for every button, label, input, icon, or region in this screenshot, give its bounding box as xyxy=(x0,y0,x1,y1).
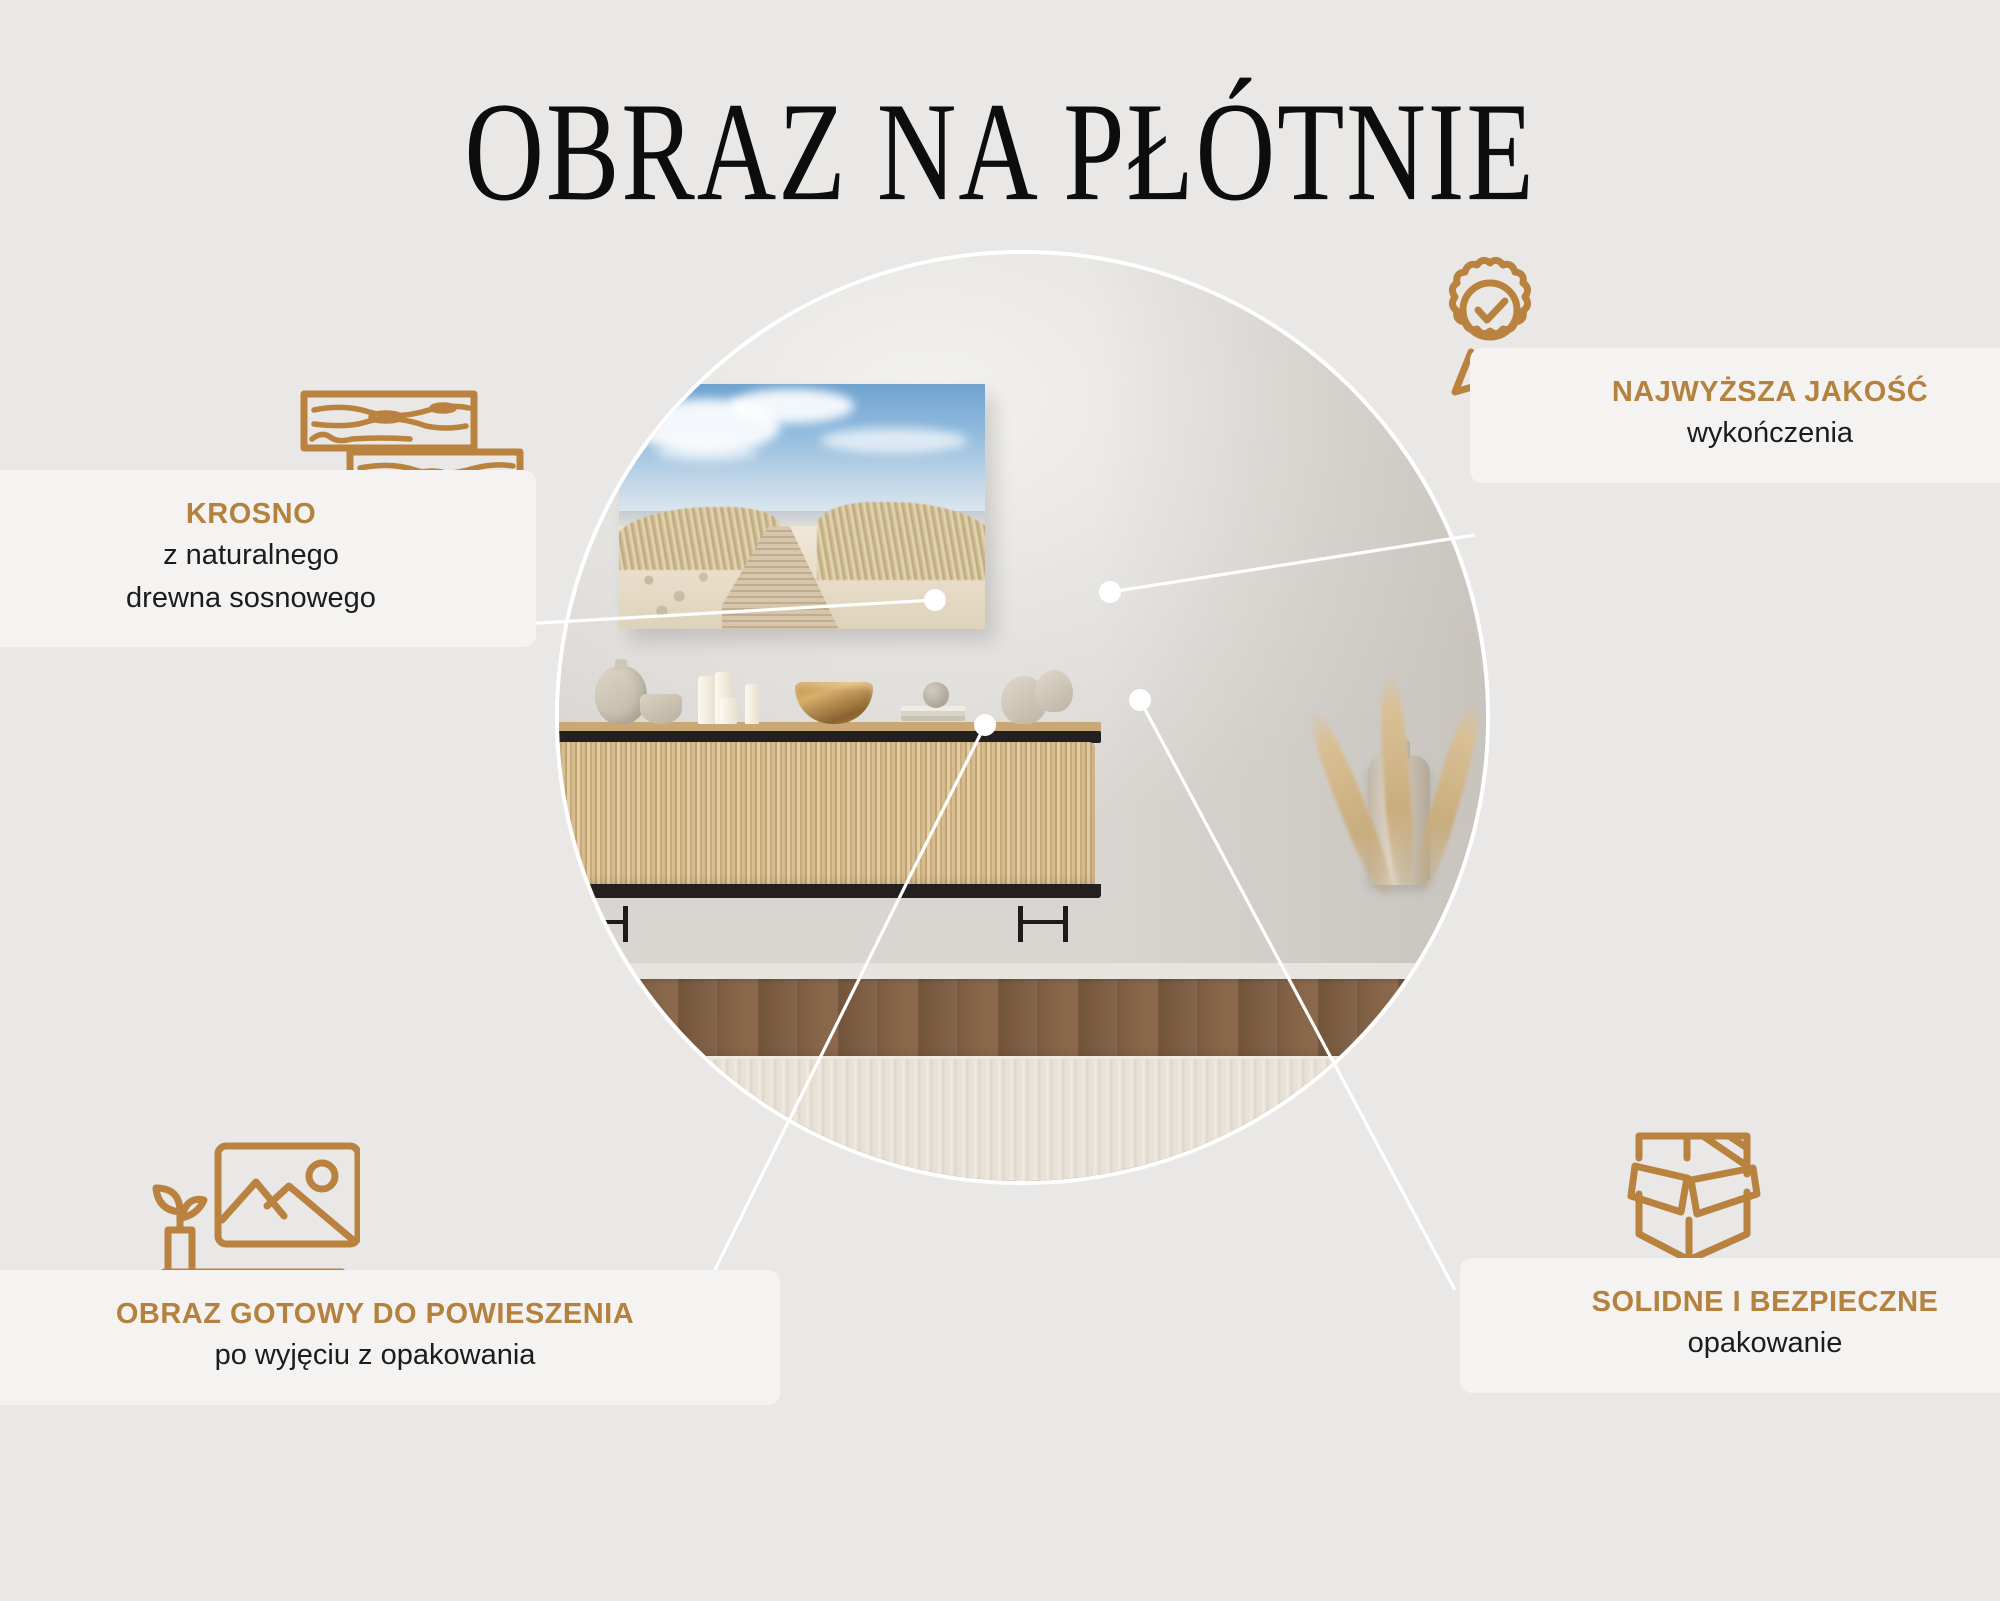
callout-packaging-subline-1: opakowanie xyxy=(1494,1324,2000,1362)
dune-grass-right xyxy=(817,502,985,581)
pampas-grass-vase xyxy=(1368,755,1430,885)
stacked-books xyxy=(901,706,965,721)
area-rug xyxy=(555,1056,1490,1185)
callout-krosno-subline-2: drewna sosnowego xyxy=(0,579,502,617)
callout-krosno: KROSNO z naturalnego drewna sosnowego xyxy=(0,470,536,647)
sideboard xyxy=(555,722,1101,907)
callout-quality-subline-1: wykończenia xyxy=(1504,414,2000,452)
product-scene-circle xyxy=(555,250,1490,1185)
page-title: OBRAZ NA PŁÓTNIE xyxy=(50,82,1950,224)
sideboard-leg-bar xyxy=(578,920,622,924)
sideboard-leg xyxy=(1063,906,1068,942)
callout-krosno-subline-1: z naturalnego xyxy=(0,536,502,574)
sand-footprints xyxy=(627,561,737,625)
sideboard-leg xyxy=(1018,906,1023,942)
pillar-candle xyxy=(745,684,759,724)
ceramic-vase xyxy=(595,666,647,724)
baseboard xyxy=(559,963,1486,979)
canvas-artwork xyxy=(619,384,985,630)
room-photo xyxy=(559,254,1486,1181)
open-box-icon xyxy=(1625,1120,1765,1275)
sideboard-leg-bar xyxy=(1023,920,1067,924)
pillar-candle xyxy=(698,676,715,724)
cloud xyxy=(729,389,853,423)
callout-ready-to-hang: OBRAZ GOTOWY DO POWIESZENIA po wyjęciu z… xyxy=(0,1270,780,1405)
callout-ready-subline-1: po wyjęciu z opakowania xyxy=(4,1336,746,1374)
callout-quality-headline: NAJWYŻSZA JAKOŚĆ xyxy=(1504,374,2000,410)
ceramic-bowl xyxy=(640,694,682,724)
callout-quality: NAJWYŻSZA JAKOŚĆ wykończenia xyxy=(1470,348,2000,483)
callout-ready-headline: OBRAZ GOTOWY DO POWIESZENIA xyxy=(4,1296,746,1332)
callout-packaging-headline: SOLIDNE I BEZPIECZNE xyxy=(1494,1284,2000,1320)
ceramic-jug xyxy=(1035,670,1073,712)
cloud xyxy=(821,428,967,453)
pillar-candle xyxy=(720,698,737,724)
callout-packaging: SOLIDNE I BEZPIECZNE opakowanie xyxy=(1460,1258,2000,1393)
sideboard-leg xyxy=(623,906,628,942)
sideboard-fluted-front xyxy=(555,742,1095,887)
sideboard-base xyxy=(555,884,1101,898)
sideboard-leg xyxy=(578,906,583,942)
callout-krosno-headline: KROSNO xyxy=(0,496,502,532)
